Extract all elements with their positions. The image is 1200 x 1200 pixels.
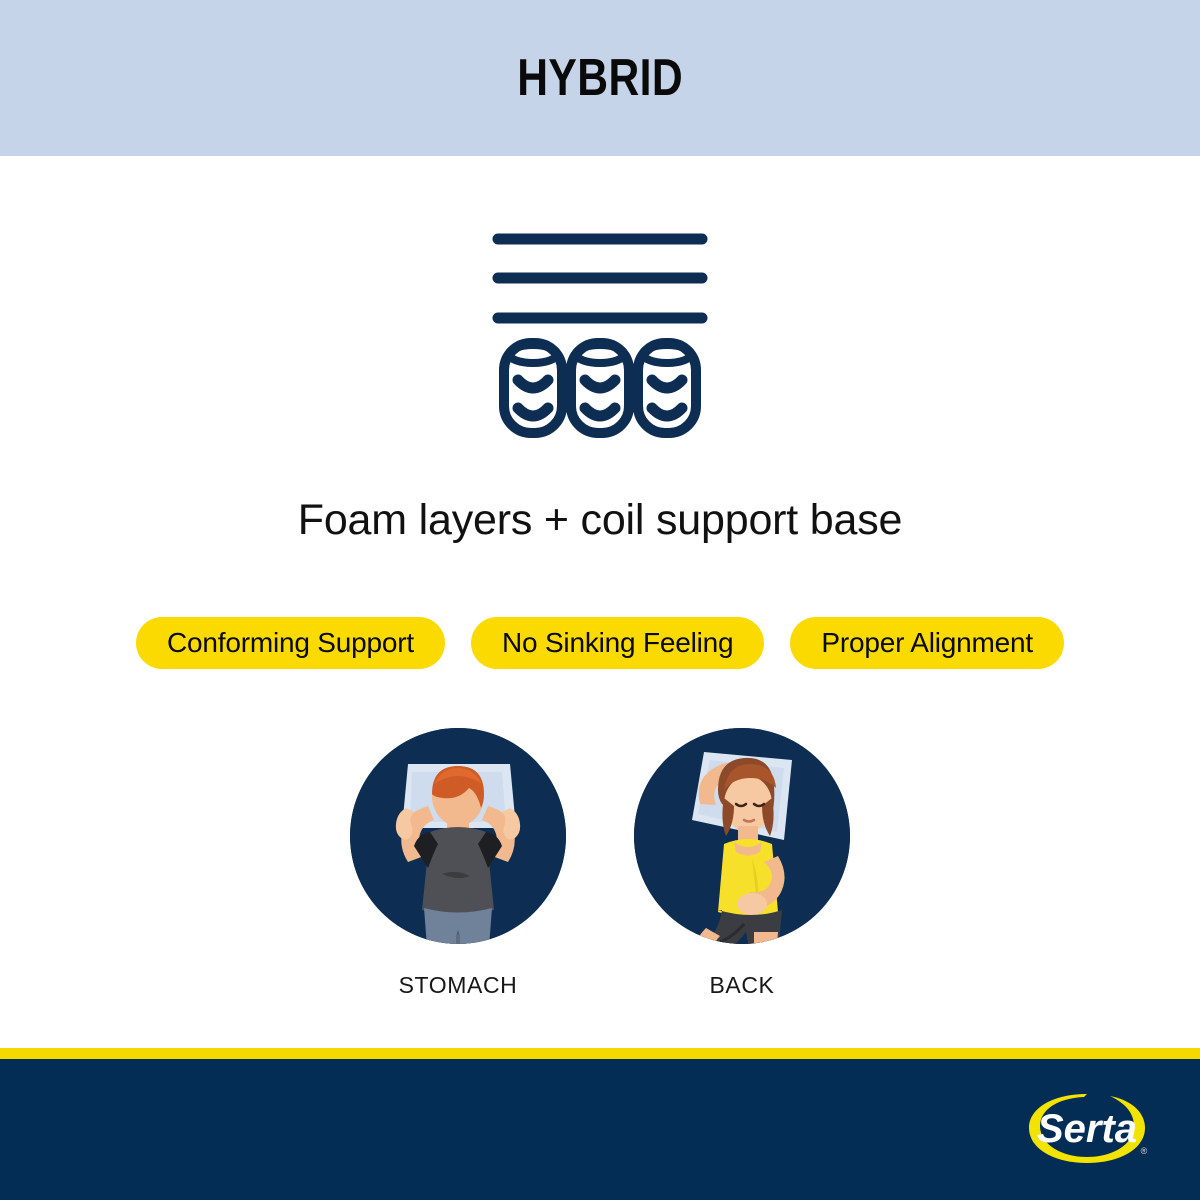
feature-pill-no-sinking-feeling[interactable]: No Sinking Feeling — [471, 617, 764, 669]
sleep-position-back[interactable]: BACK — [634, 728, 850, 999]
feature-pill-conforming-support[interactable]: Conforming Support — [136, 617, 445, 669]
header-bar: HYBRID — [0, 0, 1200, 156]
hybrid-icon-container — [0, 222, 1200, 438]
sleep-positions-row: STOMACH — [0, 728, 1200, 999]
hybrid-mattress-icon — [490, 222, 710, 438]
coil-1 — [504, 343, 562, 433]
stomach-sleeper-circle — [350, 728, 566, 944]
page-title: HYBRID — [517, 48, 683, 108]
serta-trademark: ® — [1141, 1146, 1148, 1156]
serta-logo[interactable]: Serta ® — [1020, 1086, 1154, 1172]
feature-pill-proper-alignment[interactable]: Proper Alignment — [790, 617, 1064, 669]
stomach-sleeper-illustration — [350, 728, 566, 944]
feature-pill-row: Conforming Support No Sinking Feeling Pr… — [0, 617, 1200, 669]
coil-2 — [571, 343, 629, 433]
hybrid-mattress-infographic: HYBRID — [0, 0, 1200, 1200]
footer-accent-stripe — [0, 1048, 1200, 1059]
sleep-position-stomach[interactable]: STOMACH — [350, 728, 566, 999]
mattress-description: Foam layers + coil support base — [0, 496, 1200, 545]
back-sleeper-circle — [634, 728, 850, 944]
serta-wordmark: Serta — [1037, 1107, 1137, 1151]
sleep-position-label-back: BACK — [709, 972, 774, 999]
coil-3 — [638, 343, 696, 433]
sleep-position-label-stomach: STOMACH — [399, 972, 518, 999]
back-sleeper-illustration — [634, 728, 850, 944]
